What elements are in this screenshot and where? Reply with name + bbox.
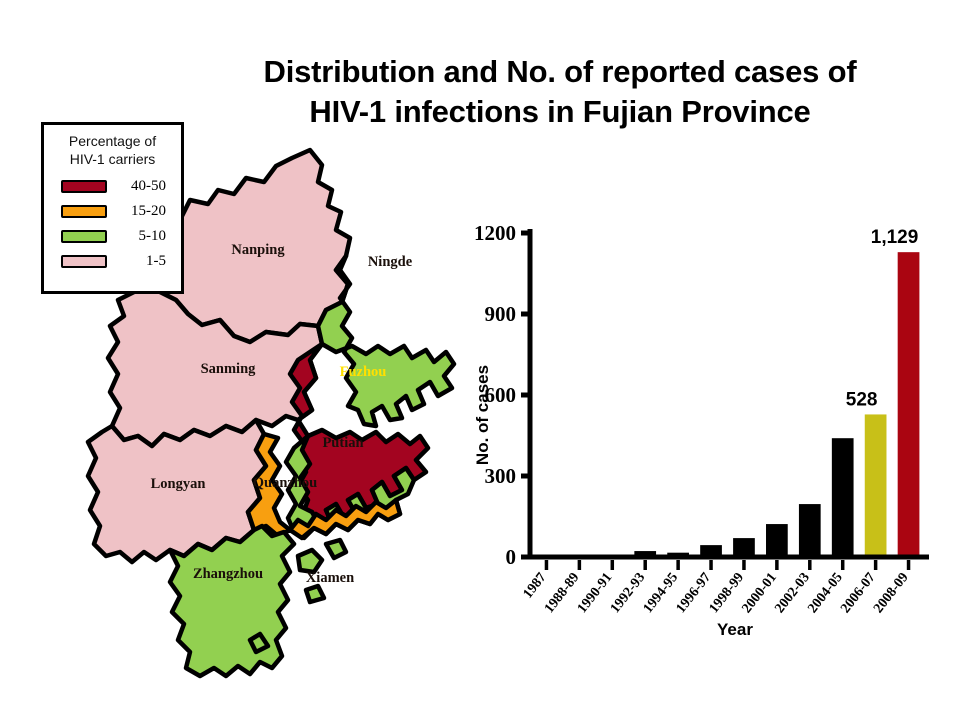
map-label-putian: Putian <box>322 435 363 451</box>
legend-rows: 40-5015-205-101-5 <box>53 174 172 273</box>
legend-swatch-40-50 <box>61 180 107 193</box>
map-label-ningde: Ningde <box>368 254 413 270</box>
x-axis-title: Year <box>717 620 753 639</box>
legend-row-15-20[interactable]: 15-20 <box>53 199 172 223</box>
y-tick-label-1200: 1200 <box>474 221 516 245</box>
map-legend: Percentage of HIV-1 carriers 40-5015-205… <box>41 122 184 294</box>
map-region-xiamen-islet-2[interactable] <box>326 540 346 558</box>
bar-2002-03[interactable] <box>799 504 821 557</box>
legend-swatch-5-10 <box>61 230 107 243</box>
map-label-xiamen: Xiamen <box>306 570 354 586</box>
legend-title: Percentage of HIV-1 carriers <box>53 133 172 168</box>
x-tick-label-2008-09: 2008-09 <box>871 570 912 616</box>
y-tick-label-0: 0 <box>506 545 517 569</box>
y-tick-label-300: 300 <box>485 464 517 488</box>
legend-row-1-5[interactable]: 1-5 <box>53 249 172 273</box>
bar-value-label-2006-07: 528 <box>846 389 878 410</box>
map-label-longyan: Longyan <box>151 476 206 492</box>
bar-1998-99[interactable] <box>733 538 755 557</box>
map-label-zhangzhou: Zhangzhou <box>193 566 263 582</box>
bar-2000-01[interactable] <box>766 524 788 557</box>
y-tick-label-900: 900 <box>485 302 517 326</box>
bar-2004-05[interactable] <box>832 438 854 557</box>
legend-label-15-20: 15-20 <box>107 203 172 220</box>
x-tick-label-1987: 1987 <box>521 570 550 601</box>
legend-swatch-15-20 <box>61 205 107 218</box>
map-label-quanzhou: Quanzhou <box>253 475 317 491</box>
chart-x-tick-labels: 19871988-891990-911992-931994-951996-971… <box>521 570 912 616</box>
y-axis-title: No. of cases <box>473 365 492 465</box>
bar-chart-svg: 03006009001200 19871988-891990-911992-93… <box>470 215 940 685</box>
map-label-nanping: Nanping <box>231 242 285 258</box>
map-label-sanming: Sanming <box>201 361 257 377</box>
page-title-line-1: Distribution and No. of reported cases o… <box>170 52 950 92</box>
bar-2006-07[interactable] <box>865 414 887 557</box>
hiv-cases-bar-chart: 03006009001200 19871988-891990-911992-93… <box>470 215 940 685</box>
legend-row-40-50[interactable]: 40-50 <box>53 174 172 198</box>
bar-value-label-2008-09: 1,129 <box>871 227 919 248</box>
legend-label-5-10: 5-10 <box>107 228 172 245</box>
legend-row-5-10[interactable]: 5-10 <box>53 224 172 248</box>
legend-swatch-1-5 <box>61 255 107 268</box>
bar-2008-09[interactable] <box>898 252 920 557</box>
legend-label-1-5: 1-5 <box>107 253 172 270</box>
map-label-fuzhou: Fuzhou <box>340 364 387 380</box>
map-region-xiamen-islet-3[interactable] <box>306 586 324 602</box>
legend-label-40-50: 40-50 <box>107 178 172 195</box>
map-region-xiamen[interactable] <box>298 550 322 572</box>
